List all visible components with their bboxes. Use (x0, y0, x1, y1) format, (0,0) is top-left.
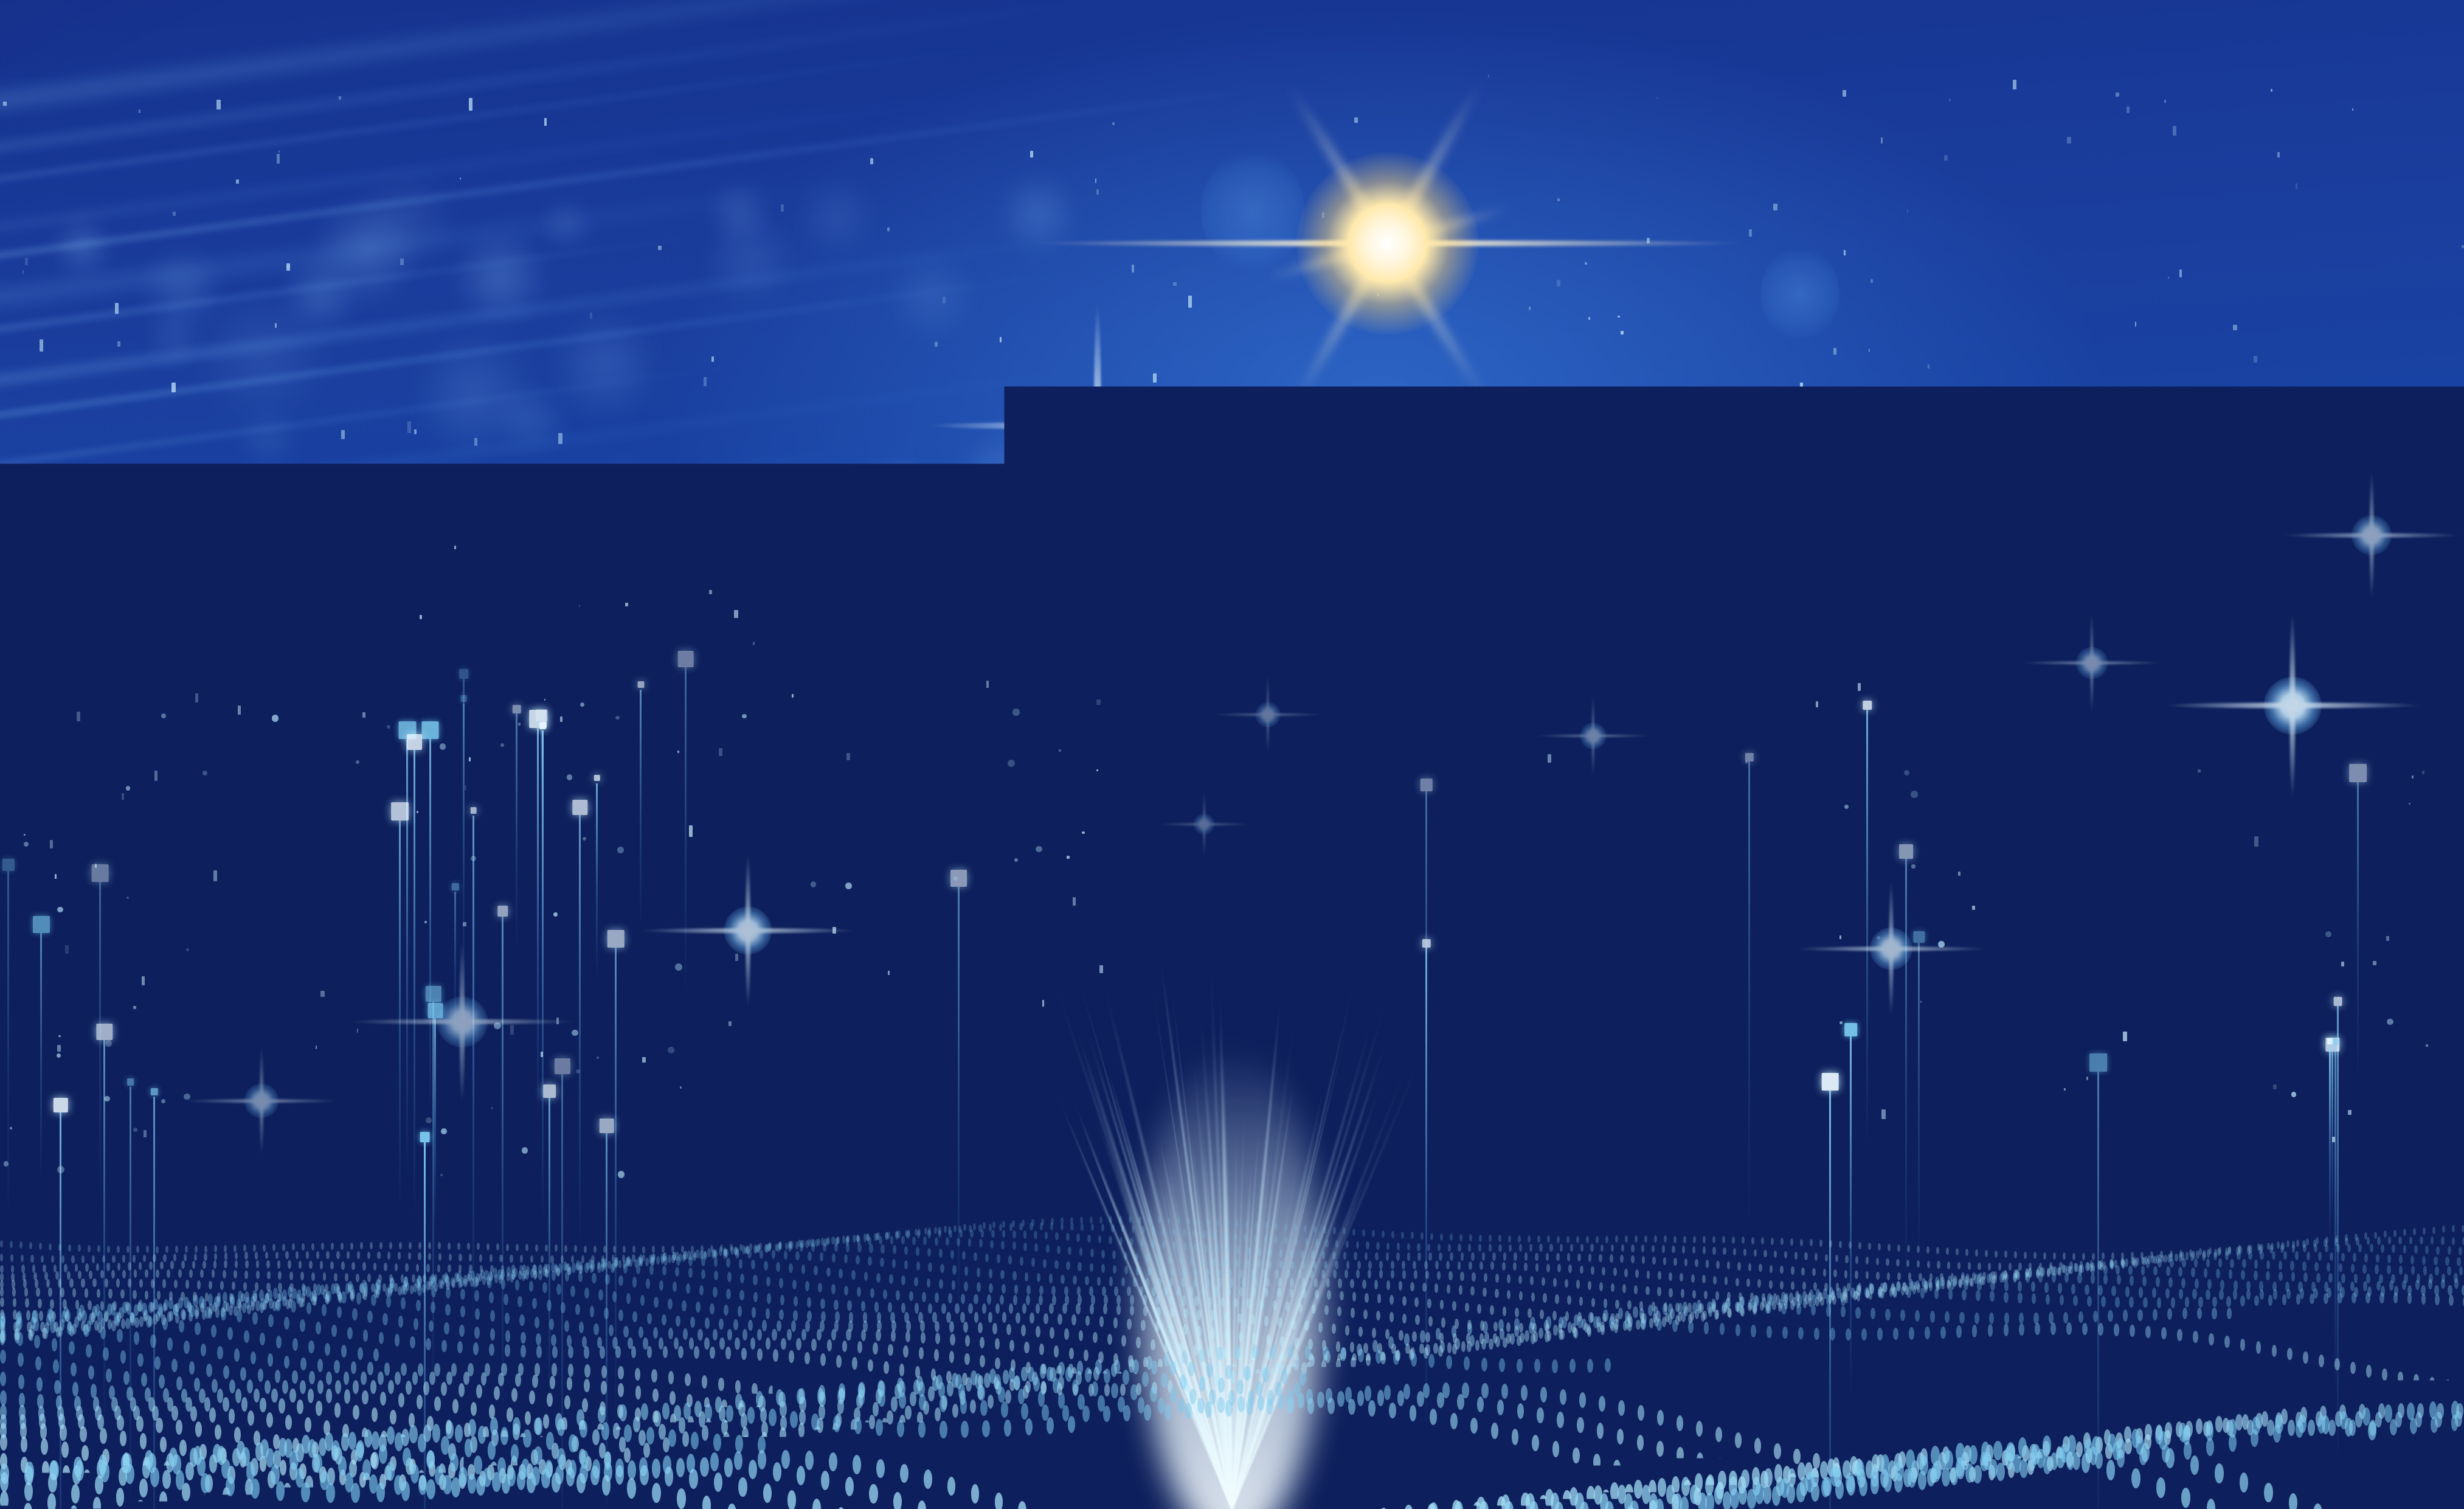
location-label: 中国·南通 (0, 1253, 2464, 1320)
organizer-value: 江苏派菲克智慧水务有限公司 (936, 876, 1464, 916)
title-line-2: 建设与运维技术推广交流会 (0, 408, 2464, 532)
conference-poster: 第二届城镇净水厂 建设与运维技术推广交流会 主办单位： 《 给水排水 》杂志社 … (0, 0, 2464, 1509)
organizer-value: 《 给水排水 》杂志社 (936, 693, 1324, 734)
organizer-label: 协办单位： (698, 754, 936, 794)
organizer-row: 承办单位： 亚太建设科技信息研究院有限公司 (698, 937, 1545, 977)
title-line-1: 第二届城镇净水厂 (0, 262, 2464, 386)
organizer-value: 南通水务集团有限公司 (936, 754, 1342, 794)
organizer-value: 上海威派格智慧水务股份有限公司 (936, 815, 1545, 855)
organizer-row: 协办单位： 南通水务集团有限公司 (698, 754, 1545, 794)
organizer-row: 江苏派菲克智慧水务有限公司 (698, 876, 1545, 916)
organizer-label (698, 815, 936, 855)
organizer-row: 主办单位： 《 给水排水 》杂志社 (698, 693, 1545, 734)
date-badge: 2024年7月12-14日 (980, 1124, 1491, 1216)
poster-title: 第二届城镇净水厂 建设与运维技术推广交流会 (0, 262, 2464, 515)
date-badge-text: 2024年7月12-14日 (976, 1120, 1495, 1221)
organizer-label (698, 876, 936, 916)
organizer-label: 承办单位： (698, 937, 936, 977)
organizer-row: 上海威派格智慧水务股份有限公司 (698, 815, 1545, 855)
organizer-value: 亚太建设科技信息研究院有限公司 (936, 937, 1545, 977)
organizer-label: 主办单位： (698, 693, 936, 734)
organizer-list: 主办单位： 《 给水排水 》杂志社 协办单位： 南通水务集团有限公司 上海威派格… (698, 693, 1545, 997)
